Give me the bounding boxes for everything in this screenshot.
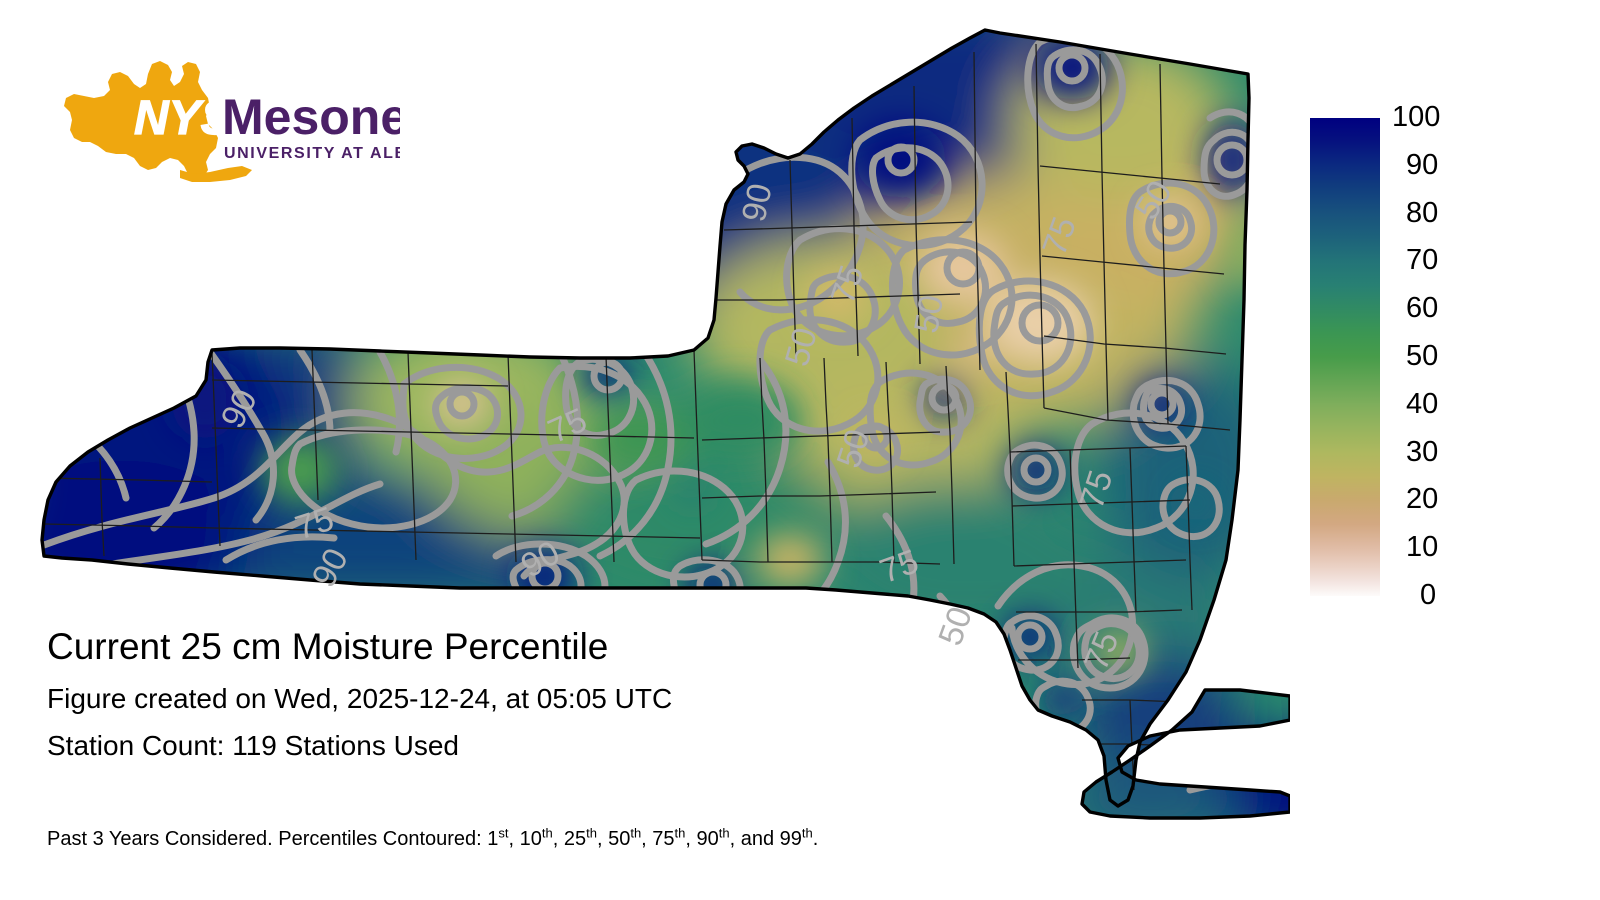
footnote-percentile-10: 10th,	[520, 828, 564, 850]
footnote-percentile-50: 50th,	[608, 828, 652, 850]
colorbar-tick-90: 90	[1406, 151, 1438, 180]
nys-mesonet-logo: NYS Mesonet UNIVERSITY AT ALBANY	[60, 58, 400, 186]
figure-canvas: 90 75 90 75 75 50 50 50 75 90 50 75 50 7…	[0, 0, 1600, 900]
footnote-conjunction: and	[741, 828, 780, 850]
logo-svg: NYS Mesonet UNIVERSITY AT ALBANY	[60, 58, 400, 186]
footnote-percentile-1: 1st,	[487, 828, 519, 850]
footnote-percentile-90: 90th,	[697, 828, 741, 850]
colorbar-tick-80: 80	[1406, 199, 1438, 228]
colorbar-tick-40: 40	[1406, 390, 1438, 419]
colorbar-tick-50: 50	[1406, 342, 1438, 371]
title-block: Current 25 cm Moisture Percentile Figure…	[47, 625, 1047, 763]
colorbar-tick-10: 10	[1406, 533, 1438, 562]
colorbar-tick-30: 30	[1406, 438, 1438, 467]
colorbar-tick-20: 20	[1406, 485, 1438, 514]
station-count: Station Count: 119 Stations Used	[47, 729, 1047, 763]
colorbar-tick-70: 70	[1406, 246, 1438, 275]
contour-label: 90	[735, 180, 780, 225]
contour-label: 50	[907, 292, 951, 336]
colorbar-tick-labels: 1009080706050403020100	[1392, 100, 1512, 620]
footnote-percentile-75: 75th,	[652, 828, 696, 850]
footnote-percentile-25: 25th,	[564, 828, 608, 850]
colorbar-tick-60: 60	[1406, 294, 1438, 323]
percentile-footnote: Past 3 Years Considered. Percentiles Con…	[47, 826, 818, 852]
logo-university-text: UNIVERSITY AT ALBANY	[224, 145, 400, 162]
percentile-colorbar	[1310, 118, 1380, 596]
logo-mesonet-text: Mesonet	[222, 89, 400, 145]
footnote-percentile-99: 99th.	[780, 828, 819, 850]
footnote-lead: Past 3 Years Considered. Percentiles Con…	[47, 828, 487, 850]
colorbar-gradient	[1310, 118, 1380, 596]
colorbar-tick-0: 0	[1420, 581, 1436, 610]
page-title: Current 25 cm Moisture Percentile	[47, 625, 1047, 669]
colorbar-tick-100: 100	[1392, 103, 1440, 132]
logo-nys-text: NYS	[134, 92, 233, 145]
creation-timestamp: Figure created on Wed, 2025-12-24, at 05…	[47, 682, 1047, 716]
